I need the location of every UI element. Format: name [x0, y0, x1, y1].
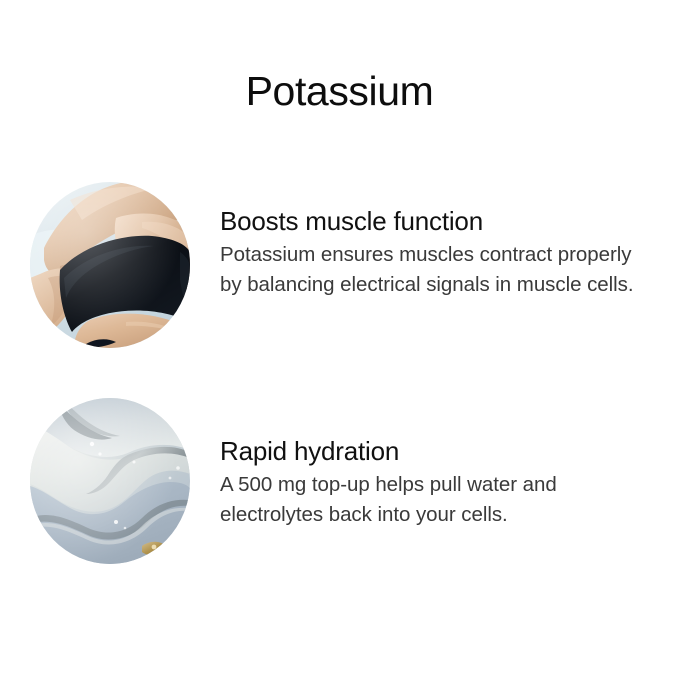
muscle-torso-photo: [30, 182, 190, 348]
product-benefits-panel: Potassium: [0, 0, 679, 679]
feature-text-muscle-function: Boosts muscle function Potassium ensures…: [220, 206, 650, 299]
water-surface-photo: [30, 398, 190, 564]
feature-heading: Boosts muscle function: [220, 206, 650, 237]
feature-text-rapid-hydration: Rapid hydration A 500 mg top-up helps pu…: [220, 436, 650, 529]
page-title: Potassium: [0, 67, 679, 115]
feature-body: Potassium ensures muscles contract prope…: [220, 240, 644, 299]
feature-heading: Rapid hydration: [220, 436, 650, 467]
feature-body: A 500 mg top-up helps pull water and ele…: [220, 470, 644, 529]
